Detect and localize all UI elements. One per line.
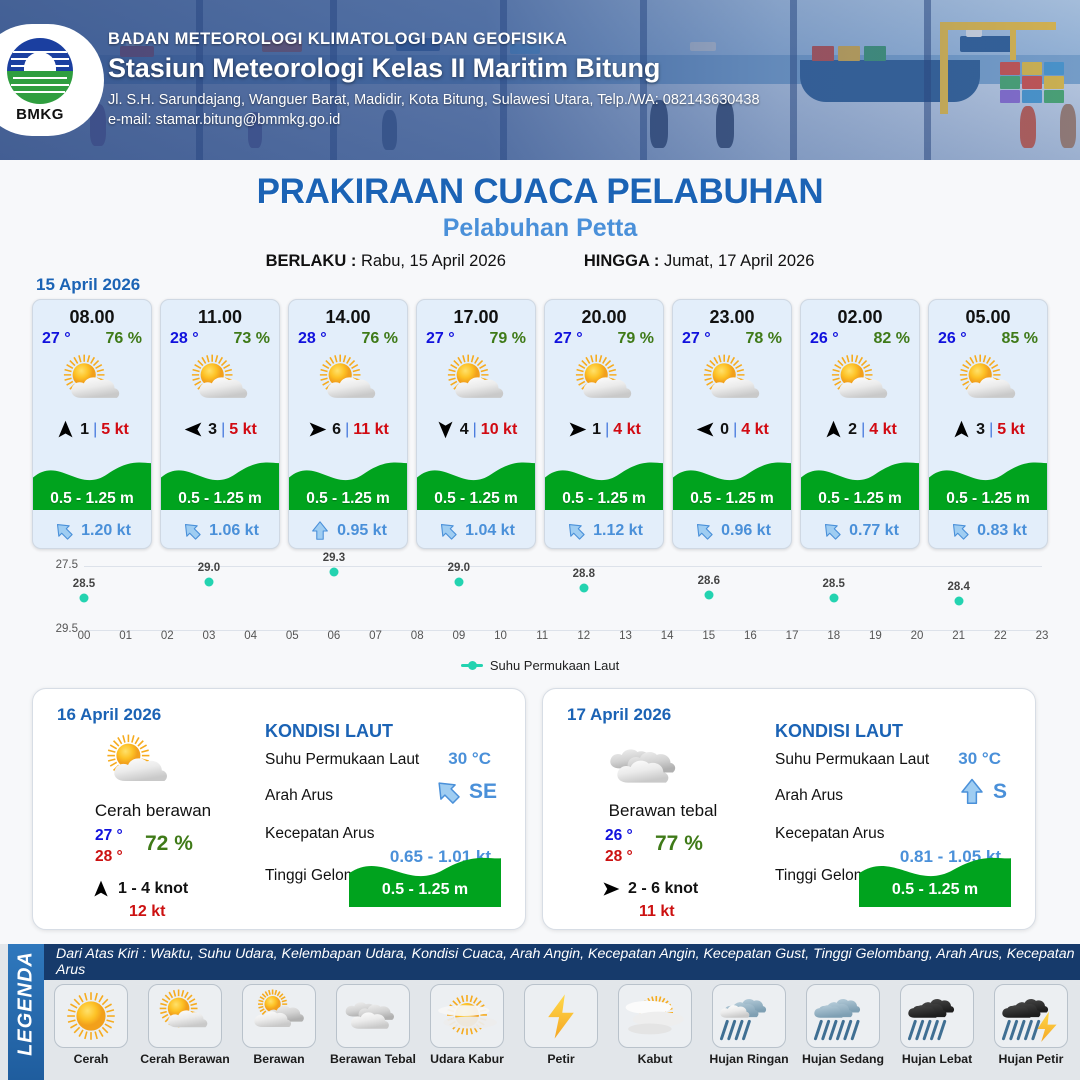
legend-item: Cerah <box>44 984 138 1066</box>
valid-from: BERLAKU : Rabu, 15 April 2026 <box>266 252 506 271</box>
chart-x-tick: 00 <box>78 630 91 642</box>
berawan-tebal-icon <box>336 984 410 1048</box>
wind-direction-icon <box>307 419 328 440</box>
wave-height: 0.5 - 1.25 m <box>161 490 279 508</box>
chart-point-label: 28.5 <box>823 578 845 590</box>
sea-condition-title: KONDISI LAUT <box>265 721 393 742</box>
wave-height: 0.5 - 1.25 m <box>929 490 1047 508</box>
current-direction-icon <box>949 520 971 542</box>
legend-item: Hujan Sedang <box>796 984 890 1066</box>
wind-speed: 4 kt <box>741 421 769 439</box>
forecast-temp-humidity: 27 ° 78 % <box>673 328 791 348</box>
wind-direction-icon <box>435 419 456 440</box>
chart-x-tick: 10 <box>494 630 507 642</box>
panel-condition: Cerah berawan <box>53 801 253 821</box>
current-direction-group: S <box>957 777 1007 807</box>
forecast-temp-humidity: 27 ° 76 % <box>33 328 151 348</box>
sea-condition-title: KONDISI LAUT <box>775 721 903 742</box>
chart-point-label: 28.8 <box>573 568 595 580</box>
cerah-berawan-icon <box>289 352 407 414</box>
legend-section: LEGENDA Dari Atas Kiri : Waktu, Suhu Uda… <box>0 944 1080 1080</box>
chart-x-tick: 14 <box>661 630 674 642</box>
wind-speed: 5 kt <box>101 421 129 439</box>
wave-height: 0.5 - 1.25 m <box>289 490 407 508</box>
wind-separator: | <box>989 421 993 439</box>
wind-direction-icon <box>695 419 716 440</box>
header-text-block: BADAN METEOROLOGI KLIMATOLOGI DAN GEOFIS… <box>108 30 760 128</box>
chart-x-tick: 01 <box>119 630 132 642</box>
wind-direction-value: 1 <box>80 421 89 439</box>
wind-separator: | <box>473 421 477 439</box>
validity-row: BERLAKU : Rabu, 15 April 2026 HINGGA : J… <box>0 252 1080 271</box>
sst-chart-legend: Suhu Permukaan Laut <box>32 658 1048 673</box>
cerah-berawan-icon <box>545 352 663 414</box>
chart-x-tick: 15 <box>702 630 715 642</box>
sst-chart: 27.529.528.529.029.329.028.828.628.528.4… <box>32 560 1048 680</box>
current-speed: 0.77 kt <box>849 522 899 540</box>
sst-value: 30 °C <box>958 749 1001 769</box>
wind-speed: 5 kt <box>997 421 1025 439</box>
legend-item: Udara Kabur <box>420 984 514 1066</box>
chart-x-tick: 05 <box>286 630 299 642</box>
chart-point-label: 29.3 <box>323 552 345 564</box>
air-temperature: 27 ° <box>426 330 455 348</box>
berawan-icon <box>242 984 316 1048</box>
chart-data-point <box>579 584 588 593</box>
legend-tab: LEGENDA <box>8 944 44 1080</box>
cerah-berawan-icon <box>33 352 151 414</box>
wind-direction-value: 4 <box>460 421 469 439</box>
legend-item-label: Cerah Berawan <box>140 1052 230 1066</box>
wind-separator: | <box>221 421 225 439</box>
chart-x-tick: 21 <box>952 630 965 642</box>
wind-info: 6 | 11 kt <box>289 419 407 440</box>
wind-direction-value: 0 <box>720 421 729 439</box>
wind-info: 1 | 5 kt <box>33 419 151 440</box>
panel-temp-min: 27 ° <box>95 827 123 845</box>
wind-direction-icon <box>567 419 588 440</box>
chart-x-tick: 17 <box>786 630 799 642</box>
chart-x-tick: 07 <box>369 630 382 642</box>
legend-item-label: Hujan Petir <box>999 1052 1064 1066</box>
legend-item-label: Cerah <box>74 1052 109 1066</box>
legend-item-label: Kabut <box>638 1052 673 1066</box>
legend-item-label: Udara Kabur <box>430 1052 504 1066</box>
legend-item-label: Hujan Lebat <box>902 1052 972 1066</box>
current-info: 1.12 kt <box>545 520 663 542</box>
forecast-temp-humidity: 28 ° 73 % <box>161 328 279 348</box>
chart-x-tick: 12 <box>577 630 590 642</box>
current-direction-label: Arah Arus <box>775 787 843 805</box>
wind-info: 4 | 10 kt <box>417 419 535 440</box>
panel-date: 17 April 2026 <box>567 705 671 725</box>
panel-temp-max: 28 ° <box>605 848 633 866</box>
chart-data-point <box>704 590 713 599</box>
forecast-card: 23.00 27 ° 78 % 0 | <box>672 299 792 549</box>
legend-icon-list: Cerah Cerah Berawan <box>44 984 1080 1066</box>
wind-info: 3 | 5 kt <box>161 419 279 440</box>
chart-x-tick: 13 <box>619 630 632 642</box>
forecast-card: 14.00 28 ° 76 % 6 | <box>288 299 408 549</box>
station-address: Jl. S.H. Sarundajang, Wanguer Barat, Mad… <box>108 92 760 108</box>
chart-data-point <box>80 594 89 603</box>
current-direction-group: SE <box>433 777 497 807</box>
wave-height-value: 0.5 - 1.25 m <box>349 881 501 899</box>
forecast-time: 17.00 <box>417 307 535 328</box>
wind-info: 3 | 5 kt <box>929 419 1047 440</box>
wind-speed: 10 kt <box>481 421 517 439</box>
forecast-card: 02.00 26 ° 82 % 2 | <box>800 299 920 549</box>
wind-speed: 5 kt <box>229 421 257 439</box>
forecast-time: 02.00 <box>801 307 919 328</box>
wind-direction-icon <box>823 419 844 440</box>
air-temperature: 27 ° <box>554 330 583 348</box>
bmkg-logo-text: BMKG <box>16 106 64 123</box>
forecast-time: 14.00 <box>289 307 407 328</box>
sst-label: Suhu Permukaan Laut <box>775 751 929 769</box>
air-temperature: 27 ° <box>682 330 711 348</box>
forecast-card: 17.00 27 ° 79 % 4 | <box>416 299 536 549</box>
current-speed: 0.83 kt <box>977 522 1027 540</box>
chart-x-tick: 20 <box>911 630 924 642</box>
current-speed-label: Kecepatan Arus <box>265 825 374 843</box>
daily-forecast-panel: 16 April 2026 Cerah berawan 27 ° 28 ° 72… <box>32 688 526 930</box>
legend-item-label: Berawan Tebal <box>330 1052 416 1066</box>
panel-temp-min: 26 ° <box>605 827 633 845</box>
wind-separator: | <box>345 421 349 439</box>
chart-x-tick: 04 <box>244 630 257 642</box>
wind-info: 1 | 4 kt <box>545 419 663 440</box>
legend-item-label: Petir <box>547 1052 574 1066</box>
wind-direction-icon <box>601 879 621 899</box>
chart-x-tick: 11 <box>536 630 548 642</box>
legend-item: Berawan Tebal <box>326 984 420 1066</box>
udara-kabur-icon <box>430 984 504 1048</box>
forecast-time: 20.00 <box>545 307 663 328</box>
air-temperature: 28 ° <box>298 330 327 348</box>
current-speed: 1.04 kt <box>465 522 515 540</box>
page-title: PRAKIRAAN CUACA PELABUHAN <box>0 172 1080 212</box>
wave-height: 0.5 - 1.25 m <box>673 490 791 508</box>
forecast-card: 11.00 28 ° 73 % 3 | <box>160 299 280 549</box>
wind-direction-value: 1 <box>592 421 601 439</box>
panel-date: 16 April 2026 <box>57 705 161 725</box>
daily-forecast-panels: 16 April 2026 Cerah berawan 27 ° 28 ° 72… <box>32 688 1048 930</box>
humidity: 79 % <box>490 330 526 348</box>
forecast-card: 05.00 26 ° 85 % 3 | <box>928 299 1048 549</box>
wind-direction-icon <box>951 419 972 440</box>
current-direction-icon <box>309 520 331 542</box>
current-info: 1.06 kt <box>161 520 279 542</box>
current-direction-value: SE <box>469 780 497 804</box>
sst-label: Suhu Permukaan Laut <box>265 751 419 769</box>
cerah-icon <box>54 984 128 1048</box>
hujan-lebat-icon <box>900 984 974 1048</box>
current-speed: 0.96 kt <box>721 522 771 540</box>
current-direction-value: S <box>993 780 1007 804</box>
legend-item: Hujan Petir <box>984 984 1078 1066</box>
station-email: e-mail: stamar.bitung@bmmkg.go.id <box>108 112 760 128</box>
forecast-temp-humidity: 27 ° 79 % <box>545 328 663 348</box>
panel-wind-speed: 1 - 4 knot <box>118 880 188 898</box>
valid-to-value: Jumat, 17 April 2026 <box>664 252 814 270</box>
air-temperature: 28 ° <box>170 330 199 348</box>
forecast-card: 08.00 27 ° 76 % 1 | <box>32 299 152 549</box>
chart-point-label: 28.5 <box>73 578 95 590</box>
chart-x-tick: 18 <box>827 630 840 642</box>
current-speed: 1.20 kt <box>81 522 131 540</box>
wind-direction-icon <box>91 879 111 899</box>
wind-direction-icon <box>55 419 76 440</box>
current-direction-icon <box>433 777 463 807</box>
organisation-name: BADAN METEOROLOGI KLIMATOLOGI DAN GEOFIS… <box>108 30 760 49</box>
chart-point-label: 29.0 <box>448 562 470 574</box>
legend-item: Hujan Lebat <box>890 984 984 1066</box>
wind-direction-value: 6 <box>332 421 341 439</box>
forecast-temp-humidity: 26 ° 82 % <box>801 328 919 348</box>
panel-wind: 1 - 4 knot <box>91 879 188 899</box>
chart-x-tick: 23 <box>1036 630 1049 642</box>
current-info: 0.77 kt <box>801 520 919 542</box>
forecast-temp-humidity: 28 ° 76 % <box>289 328 407 348</box>
berawan-tebal-icon <box>601 733 693 795</box>
wind-separator: | <box>93 421 97 439</box>
panel-humidity: 72 % <box>145 832 193 856</box>
current-info: 0.96 kt <box>673 520 791 542</box>
chart-y-tick: 27.5 <box>32 559 78 571</box>
wind-direction-icon <box>183 419 204 440</box>
valid-from-label: BERLAKU : <box>266 252 357 270</box>
wave-height: 0.5 - 1.25 m <box>801 490 919 508</box>
legend-description: Dari Atas Kiri : Waktu, Suhu Udara, Kele… <box>44 944 1080 980</box>
current-direction-label: Arah Arus <box>265 787 333 805</box>
wind-direction-value: 3 <box>208 421 217 439</box>
chart-point-label: 28.4 <box>947 581 969 593</box>
panel-gust: 11 kt <box>639 903 675 921</box>
humidity: 73 % <box>234 330 270 348</box>
forecast-time: 11.00 <box>161 307 279 328</box>
chart-point-label: 29.0 <box>198 562 220 574</box>
legend-item: Hujan Ringan <box>702 984 796 1066</box>
bmkg-logo-mark <box>7 38 73 104</box>
legend-item: Petir <box>514 984 608 1066</box>
hourly-forecast-list: 08.00 27 ° 76 % 1 | <box>32 299 1048 549</box>
chart-gridline <box>84 566 1042 567</box>
current-info: 0.83 kt <box>929 520 1047 542</box>
legend-item-label: Hujan Ringan <box>709 1052 788 1066</box>
wave-height-value: 0.5 - 1.25 m <box>859 881 1011 899</box>
chart-data-point <box>954 597 963 606</box>
wave-height: 0.5 - 1.25 m <box>545 490 663 508</box>
hujan-petir-icon <box>994 984 1068 1048</box>
air-temperature: 26 ° <box>938 330 967 348</box>
hujan-ringan-icon <box>712 984 786 1048</box>
humidity: 78 % <box>746 330 782 348</box>
humidity: 76 % <box>106 330 142 348</box>
wind-direction-value: 2 <box>848 421 857 439</box>
panel-gust: 12 kt <box>129 903 165 921</box>
legend-item: Kabut <box>608 984 702 1066</box>
panel-wind-speed: 2 - 6 knot <box>628 880 698 898</box>
wind-speed: 11 kt <box>353 421 389 439</box>
wind-separator: | <box>733 421 737 439</box>
kabut-icon <box>618 984 692 1048</box>
panel-temp-max: 28 ° <box>95 848 123 866</box>
humidity: 79 % <box>618 330 654 348</box>
wave-height: 0.5 - 1.25 m <box>33 490 151 508</box>
forecast-card: 20.00 27 ° 79 % 1 | <box>544 299 664 549</box>
forecast-time: 08.00 <box>33 307 151 328</box>
chart-x-tick: 08 <box>411 630 424 642</box>
wind-separator: | <box>861 421 865 439</box>
chart-y-tick: 29.5 <box>32 623 78 635</box>
petir-icon <box>524 984 598 1048</box>
current-direction-icon <box>693 520 715 542</box>
current-info: 1.04 kt <box>417 520 535 542</box>
air-temperature: 26 ° <box>810 330 839 348</box>
forecast-time: 23.00 <box>673 307 791 328</box>
page-subtitle: Pelabuhan Petta <box>0 214 1080 243</box>
wind-info: 2 | 4 kt <box>801 419 919 440</box>
humidity: 85 % <box>1002 330 1038 348</box>
sst-chart-xaxis: 0001020304050607080910111213141516171819… <box>84 630 1042 648</box>
current-direction-icon <box>821 520 843 542</box>
cerah-berawan-icon <box>91 733 183 795</box>
sst-value: 30 °C <box>448 749 491 769</box>
cerah-berawan-icon <box>417 352 535 414</box>
current-speed: 1.06 kt <box>209 522 259 540</box>
forecast-day-label: 15 April 2026 <box>36 275 140 295</box>
sst-chart-plot: 27.529.528.529.029.329.028.828.628.528.4 <box>84 566 1042 630</box>
current-info: 1.20 kt <box>33 520 151 542</box>
legend-marker-icon <box>461 664 483 667</box>
wind-speed: 4 kt <box>613 421 641 439</box>
current-direction-icon <box>437 520 459 542</box>
valid-to-label: HINGGA : <box>584 252 659 270</box>
forecast-temp-humidity: 26 ° 85 % <box>929 328 1047 348</box>
chart-data-point <box>329 568 338 577</box>
panel-condition: Berawan tebal <box>563 801 763 821</box>
chart-x-tick: 03 <box>203 630 216 642</box>
chart-x-tick: 06 <box>328 630 341 642</box>
legend-item: Cerah Berawan <box>138 984 232 1066</box>
cerah-berawan-icon <box>673 352 791 414</box>
current-direction-icon <box>565 520 587 542</box>
chart-data-point <box>204 578 213 587</box>
chart-x-tick: 16 <box>744 630 757 642</box>
humidity: 82 % <box>874 330 910 348</box>
cerah-berawan-icon <box>929 352 1047 414</box>
current-info: 0.95 kt <box>289 520 407 542</box>
wind-info: 0 | 4 kt <box>673 419 791 440</box>
current-direction-icon <box>181 520 203 542</box>
chart-data-point <box>454 578 463 587</box>
current-direction-icon <box>53 520 75 542</box>
humidity: 76 % <box>362 330 398 348</box>
wind-speed: 4 kt <box>869 421 897 439</box>
daily-forecast-panel: 17 April 2026 Berawan tebal 26 ° 28 ° 77… <box>542 688 1036 930</box>
legend-item: Berawan <box>232 984 326 1066</box>
page-header: BMKG BADAN METEOROLOGI KLIMATOLOGI DAN G… <box>0 0 1080 160</box>
chart-x-tick: 09 <box>452 630 465 642</box>
current-speed-label: Kecepatan Arus <box>775 825 884 843</box>
legend-item-label: Hujan Sedang <box>802 1052 884 1066</box>
chart-point-label: 28.6 <box>698 575 720 587</box>
wind-separator: | <box>605 421 609 439</box>
chart-x-tick: 22 <box>994 630 1007 642</box>
cerah-berawan-icon <box>148 984 222 1048</box>
wind-direction-value: 3 <box>976 421 985 439</box>
panel-wind: 2 - 6 knot <box>601 879 698 899</box>
station-name: Stasiun Meteorologi Kelas II Maritim Bit… <box>108 53 760 84</box>
valid-from-value: Rabu, 15 April 2026 <box>361 252 506 270</box>
wave-height: 0.5 - 1.25 m <box>417 490 535 508</box>
current-direction-icon <box>957 777 987 807</box>
chart-x-tick: 02 <box>161 630 174 642</box>
cerah-berawan-icon <box>161 352 279 414</box>
legend-item-label: Berawan <box>253 1052 304 1066</box>
valid-to: HINGGA : Jumat, 17 April 2026 <box>584 252 815 271</box>
legend-tab-label: LEGENDA <box>15 936 38 1072</box>
sst-legend-label: Suhu Permukaan Laut <box>490 658 619 673</box>
chart-x-tick: 19 <box>869 630 882 642</box>
forecast-temp-humidity: 27 ° 79 % <box>417 328 535 348</box>
hujan-sedang-icon <box>806 984 880 1048</box>
air-temperature: 27 ° <box>42 330 71 348</box>
current-speed: 0.95 kt <box>337 522 387 540</box>
current-speed: 1.12 kt <box>593 522 643 540</box>
chart-data-point <box>829 594 838 603</box>
forecast-time: 05.00 <box>929 307 1047 328</box>
cerah-berawan-icon <box>801 352 919 414</box>
panel-humidity: 77 % <box>655 832 703 856</box>
